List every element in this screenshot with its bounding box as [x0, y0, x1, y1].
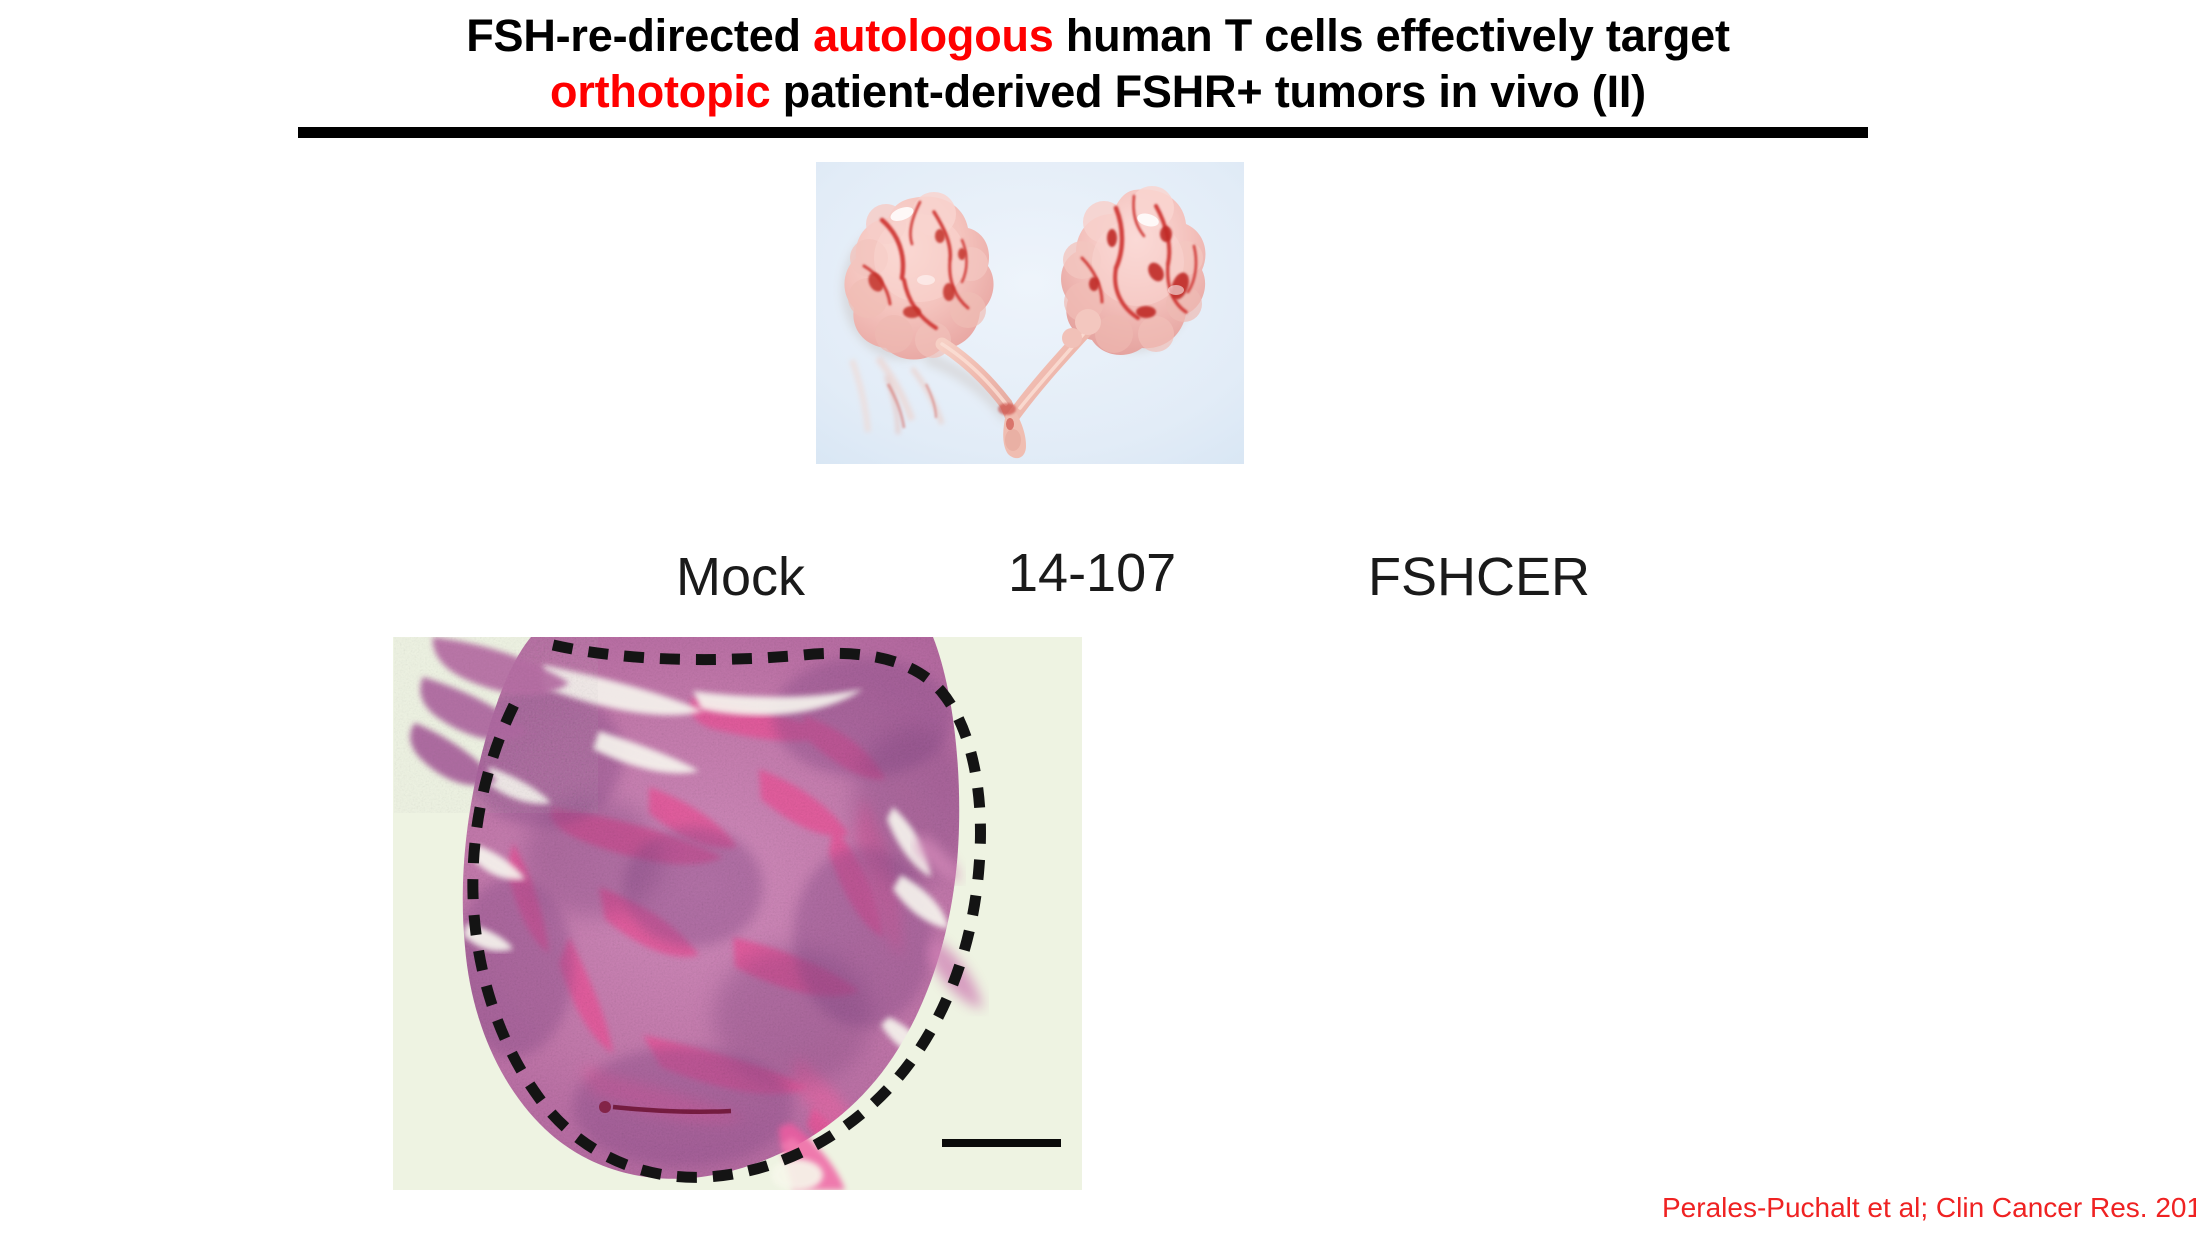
title-text-segment: human T cells effectively target [1054, 10, 1730, 61]
title-highlight-orthotopic: orthotopic [550, 66, 770, 117]
title-underline-rule [298, 127, 1868, 138]
title-highlight-autologous: autologous [813, 10, 1053, 61]
gross-tumor-photo [816, 162, 1244, 464]
group-label-14-107: 14-107 [1008, 546, 1176, 600]
group-label-mock: Mock [676, 550, 805, 604]
page-title-line-2: orthotopic patient-derived FSHR+ tumors … [0, 64, 2196, 120]
page-title: FSH-re-directed autologous human T cells… [0, 8, 2196, 120]
title-text-segment: patient-derived FSHR+ tumors in vivo (II… [770, 66, 1645, 117]
scale-bar [942, 1139, 1061, 1147]
title-text-segment: FSH-re-directed [466, 10, 813, 61]
group-label-fshcer: FSHCER [1368, 550, 1590, 604]
citation-text: Perales-Puchalt et al; Clin Cancer Res. … [1662, 1192, 2196, 1224]
page-title-line-1: FSH-re-directed autologous human T cells… [0, 8, 2196, 64]
histology-section-image [393, 637, 1082, 1190]
